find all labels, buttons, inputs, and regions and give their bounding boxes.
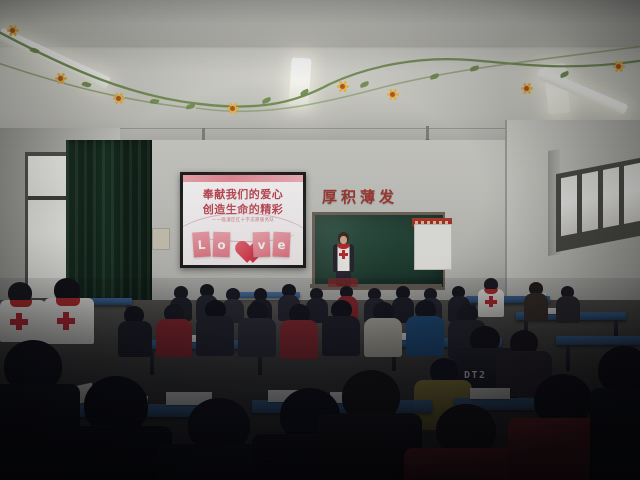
student	[524, 282, 548, 320]
red-cross-icon	[485, 300, 497, 304]
wall-slogan: 厚积薄发	[322, 186, 432, 207]
love-banner: L o v e	[191, 230, 295, 260]
sunflower-icon	[112, 92, 125, 105]
student	[238, 302, 276, 354]
window-pane	[624, 163, 640, 224]
student	[322, 300, 360, 354]
slide-headline-2: 创造生命的精彩	[183, 201, 303, 217]
student	[404, 404, 524, 480]
sunflower-icon	[520, 82, 533, 95]
left-window-glass	[28, 156, 70, 298]
wall-notice	[152, 228, 170, 250]
desk	[556, 336, 640, 345]
sunflower-icon	[336, 80, 349, 93]
student	[196, 300, 234, 354]
window-pane	[603, 167, 619, 228]
sunflower-icon	[54, 72, 67, 85]
love-letter-card: e	[272, 232, 290, 258]
student	[590, 346, 640, 480]
love-letter-card: v	[253, 232, 271, 258]
slide-top-band	[183, 175, 303, 182]
window-mullion	[28, 196, 70, 200]
student	[556, 286, 580, 322]
student	[156, 304, 192, 354]
projection-screen: 奉献我们的爱心 创造生命的精彩 ——临潼区红十字志愿服务队 L o v e	[180, 172, 306, 268]
sunflower-icon	[386, 88, 399, 101]
sunflower-icon	[6, 24, 19, 37]
window-pane	[561, 175, 577, 236]
worksheet	[470, 388, 510, 399]
right-window	[556, 158, 640, 252]
desk-leg	[566, 345, 570, 371]
student	[118, 306, 152, 354]
volunteer-left-1	[0, 282, 46, 338]
classroom-poster	[414, 224, 452, 270]
red-cross-icon	[339, 253, 348, 256]
slide-headline-1: 奉献我们的爱心	[183, 186, 303, 202]
volunteer-left-2	[42, 278, 94, 338]
love-letter-card: L	[192, 231, 211, 257]
love-letter-card: o	[213, 232, 231, 258]
student	[406, 300, 444, 354]
presenter-face	[340, 236, 347, 244]
sunflower-icon	[226, 102, 239, 115]
slide-subtitle: ——临潼区红十字志愿服务队	[183, 217, 303, 223]
red-cross-icon	[10, 319, 28, 325]
slide-surface: 奉献我们的爱心 创造生命的精彩 ——临潼区红十字志愿服务队 L o v e	[183, 175, 303, 265]
window-pane	[582, 171, 598, 232]
sunflower-icon	[612, 60, 625, 73]
red-cross-icon	[57, 318, 75, 324]
student	[62, 376, 172, 480]
classroom-photo: 厚积薄发 奉献我们的爱心 创造生命的精彩 ——临潼区红十字志愿服务队 L o v…	[0, 0, 640, 480]
student	[280, 304, 318, 356]
student	[364, 302, 402, 354]
